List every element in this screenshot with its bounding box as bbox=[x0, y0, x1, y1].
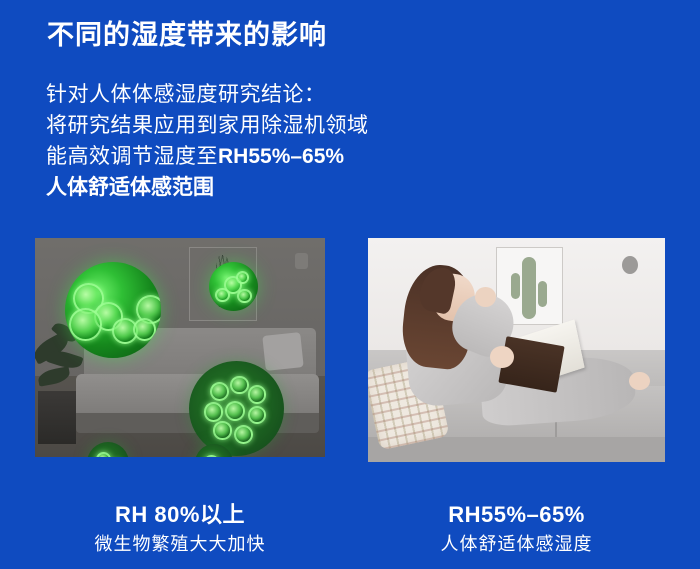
cactus-icon bbox=[522, 257, 536, 319]
page-title: 不同的湿度带来的影响 bbox=[47, 20, 327, 51]
body-line-3: 能高效调节湿度至RH55%–65% bbox=[46, 141, 369, 172]
microbe-blob-icon bbox=[65, 262, 161, 358]
woman-hand-holding-book bbox=[490, 346, 514, 368]
body-line-4-highlight-text: 人体舒适体感范围 bbox=[46, 176, 214, 199]
caption-right-title: RH55%–65% bbox=[368, 501, 665, 529]
wall-switch-icon bbox=[295, 253, 308, 269]
caption-right: RH55%–65% 人体舒适体感湿度 bbox=[368, 501, 665, 557]
body-line-3-regular-text: 能高效调节湿度至 bbox=[46, 145, 218, 168]
body-line-1: 针对人体体感湿度研究结论： bbox=[46, 79, 369, 110]
caption-right-subtitle: 人体舒适体感湿度 bbox=[368, 531, 665, 557]
woman-hand-at-temple bbox=[475, 287, 496, 307]
humidity-comparison-poster: 不同的湿度带来的影响 针对人体体感湿度研究结论： 将研究结果应用到家用除湿机领域… bbox=[0, 0, 700, 569]
caption-left: RH 80%以上 微生物繁殖大大加快 bbox=[35, 501, 325, 557]
photo-woman-reading-on-sofa bbox=[368, 238, 665, 462]
body-line-2-text: 将研究结果应用到家用除湿机领域 bbox=[46, 114, 369, 137]
dim-room-cushion bbox=[262, 332, 303, 371]
microbe-blob-icon bbox=[209, 262, 258, 311]
photo-comparison-row bbox=[0, 238, 700, 463]
body-line-2: 将研究结果应用到家用除湿机领域 bbox=[46, 110, 369, 141]
body-copy: 针对人体体感湿度研究结论： 将研究结果应用到家用除湿机领域 能高效调节湿度至RH… bbox=[46, 79, 369, 203]
microbe-blob-icon bbox=[189, 361, 284, 456]
dim-room-scene bbox=[35, 238, 325, 457]
body-line-1-text: 针对人体体感湿度研究结论： bbox=[46, 83, 326, 106]
bright-room-scene bbox=[368, 238, 665, 462]
dim-room-plant-pot bbox=[38, 391, 76, 444]
caption-left-title: RH 80%以上 bbox=[35, 501, 325, 529]
body-line-3-highlight-value: RH55%–65% bbox=[218, 145, 344, 168]
photo-dim-room-with-green-microbes bbox=[35, 238, 325, 457]
body-line-4: 人体舒适体感范围 bbox=[46, 172, 369, 203]
caption-left-subtitle: 微生物繁殖大大加快 bbox=[35, 531, 325, 557]
